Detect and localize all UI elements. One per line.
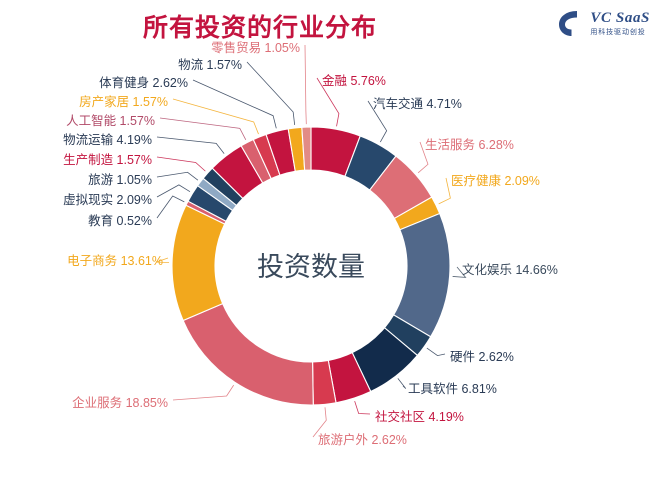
slice-label: 虚拟现实 2.09%	[0, 189, 152, 208]
leader-line	[157, 196, 184, 218]
slice-label: 金融 5.76%	[322, 70, 386, 89]
leader-line	[173, 99, 259, 134]
slice-label: 物流运输 4.19%	[0, 129, 152, 148]
slice-label: 教育 0.52%	[0, 210, 152, 229]
slice-label: 文化娱乐 14.66%	[462, 259, 558, 278]
leader-line	[173, 385, 234, 400]
leader-line	[427, 348, 445, 356]
donut-chart: 投资数量 金融 5.76%汽车交通 4.71%生活服务 6.28%医疗健康 2.…	[0, 0, 660, 480]
slice-label: 企业服务 18.85%	[0, 392, 168, 411]
slice-label: 房产家居 1.57%	[0, 91, 168, 110]
chart-page: 所有投资的行业分布 VC SaaS 用科技驱动创投 投资数量 金融 5.76%汽…	[0, 0, 660, 480]
slice-label: 生活服务 6.28%	[425, 134, 514, 153]
slice-label: 生产制造 1.57%	[0, 149, 152, 168]
leader-line	[193, 80, 276, 128]
slice-label: 工具软件 6.81%	[408, 378, 497, 397]
slice-label: 旅游 1.05%	[0, 169, 152, 188]
slice-label: 人工智能 1.57%	[0, 110, 155, 129]
leader-line	[247, 62, 295, 125]
slice-label: 物流 1.57%	[0, 54, 242, 73]
leader-line	[157, 157, 205, 171]
slice-label: 旅游户外 2.62%	[318, 429, 407, 448]
slice-label: 社交社区 4.19%	[375, 406, 464, 425]
leader-line	[439, 178, 451, 204]
leader-line	[157, 172, 198, 180]
leader-line	[355, 401, 370, 414]
leader-line	[305, 45, 306, 124]
slice-label: 硬件 2.62%	[450, 346, 514, 365]
donut-slice[interactable]	[183, 304, 313, 405]
slice-label: 零售贸易 1.05%	[0, 37, 300, 56]
donut-slice[interactable]	[172, 205, 225, 320]
slice-label: 体育健身 2.62%	[0, 72, 188, 91]
leader-line	[398, 378, 406, 388]
slice-label: 汽车交通 4.71%	[373, 93, 462, 112]
leader-line	[157, 137, 224, 154]
slice-label: 电子商务 13.61%	[0, 250, 163, 269]
leader-line	[160, 118, 246, 140]
center-label: 投资数量	[257, 252, 365, 282]
slice-label: 医疗健康 2.09%	[451, 170, 540, 189]
leader-line	[157, 185, 190, 197]
donut-slice[interactable]	[394, 214, 450, 337]
